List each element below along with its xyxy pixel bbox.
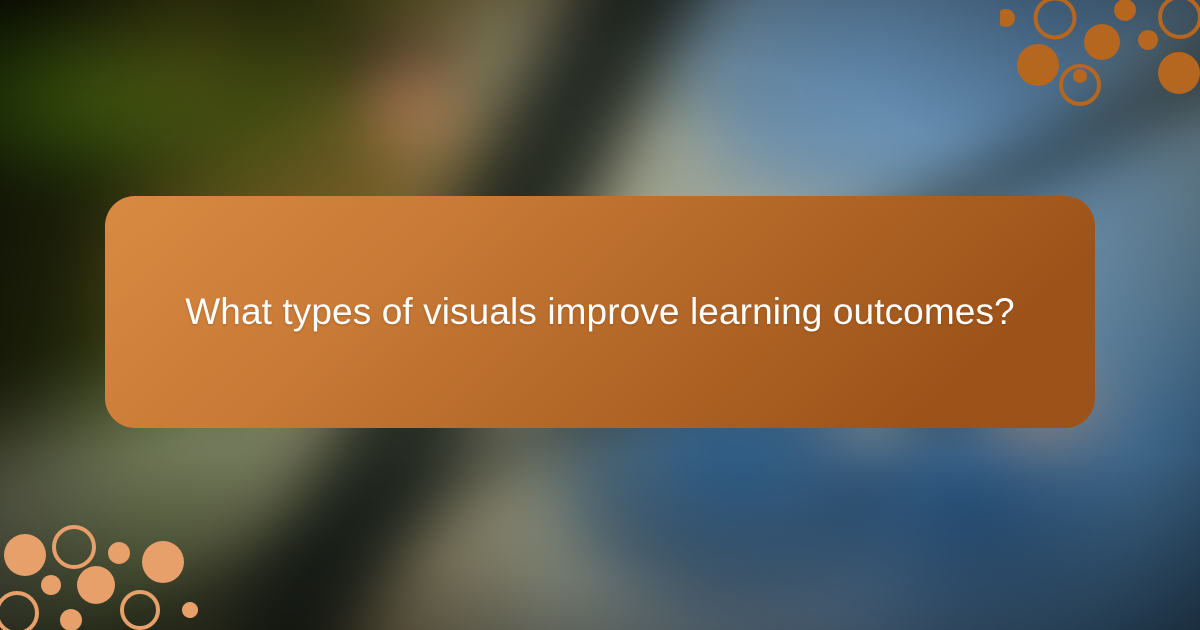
- decorative-circle: [1114, 0, 1136, 21]
- decorative-circle: [1084, 24, 1120, 60]
- decorative-circle: [4, 534, 46, 576]
- decorative-circle: [0, 593, 37, 630]
- circle-cluster-top-right: [1000, 0, 1200, 110]
- decorative-circle: [60, 609, 82, 630]
- decorative-circle: [108, 542, 130, 564]
- social-card: What types of visuals improve learning o…: [0, 0, 1200, 630]
- decorative-circle: [1160, 0, 1200, 37]
- headline-banner: What types of visuals improve learning o…: [105, 196, 1095, 428]
- decorative-circle: [182, 602, 198, 618]
- page-title: What types of visuals improve learning o…: [185, 284, 1015, 340]
- decorative-circle: [1000, 9, 1015, 27]
- page-title-line-2: outcomes?: [833, 291, 1015, 332]
- decorative-circle: [1036, 0, 1075, 38]
- decorative-circle: [1158, 52, 1200, 94]
- circle-cluster-bottom-left-svg: [0, 520, 200, 630]
- circle-cluster-top-right-svg: [1000, 0, 1200, 110]
- decorative-circle: [54, 527, 94, 567]
- decorative-circle: [1138, 30, 1158, 50]
- page-title-line-1: What types of visuals improve learning: [185, 291, 822, 332]
- decorative-circle: [1017, 44, 1059, 86]
- circle-cluster-bottom-left: [0, 520, 200, 630]
- decorative-circle: [41, 575, 61, 595]
- decorative-circle: [77, 566, 115, 604]
- decorative-circle: [1073, 69, 1087, 83]
- decorative-circle: [142, 541, 184, 583]
- decorative-circle: [122, 592, 158, 628]
